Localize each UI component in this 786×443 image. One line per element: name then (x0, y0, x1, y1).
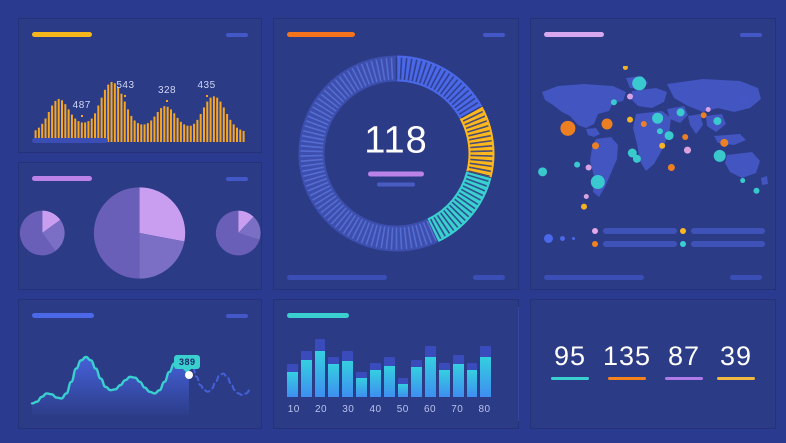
map-legend-label-bar (603, 241, 677, 247)
donut-underline-secondary (377, 182, 415, 186)
kpi-value: 39 (717, 343, 755, 370)
panel-striped-wave: 487543328435 (18, 18, 262, 153)
bar-column[interactable] (370, 363, 381, 397)
bar-column[interactable] (301, 351, 312, 397)
bar-segment-base (356, 378, 367, 397)
bar-column[interactable] (287, 364, 298, 397)
map-legend-bubble (560, 236, 565, 241)
donut-gauge-chart[interactable]: 118 (273, 46, 519, 261)
bar-x-tick: 50 (396, 404, 410, 415)
bar-segment-base (287, 372, 298, 397)
bar-segment-base (342, 361, 353, 397)
map-legend-dot (680, 228, 686, 234)
bar-column[interactable] (453, 355, 464, 397)
bar-column[interactable] (480, 346, 491, 397)
panel-pie-charts (18, 162, 262, 290)
panel-world-map (530, 18, 776, 290)
map-legend-label-bar (691, 241, 765, 247)
kpi-item[interactable]: 87 (665, 343, 703, 380)
panel-bar-chart: 1020304050607080 (273, 299, 519, 429)
panel-header-accent-map (544, 32, 604, 37)
bar-column[interactable] (315, 339, 326, 397)
bar-x-tick (410, 404, 424, 415)
map-legend-item[interactable] (592, 241, 677, 247)
bar-x-tick (382, 404, 396, 415)
data-tooltip: 389 (174, 355, 201, 369)
bar-segment-upper (439, 363, 450, 370)
wave-value-dot (166, 100, 168, 102)
kpi-underline (608, 377, 646, 380)
bar-segment-upper (480, 346, 491, 356)
kpi-value: 135 (603, 343, 651, 370)
wave-value-label: 328 (158, 85, 176, 96)
bar-column[interactable] (439, 363, 450, 397)
bar-segment-upper (467, 363, 478, 370)
map-legend-bubble (544, 234, 553, 243)
bar-segment-base (301, 360, 312, 397)
kpi-underline (717, 377, 755, 380)
bar-segment-base (453, 364, 464, 397)
bar-x-tick (491, 404, 505, 415)
bar-segment-base (370, 370, 381, 397)
wave-value-label: 543 (116, 80, 134, 91)
wave-value-label: 487 (73, 100, 91, 111)
donut-value: 118 (336, 121, 456, 159)
bar-column[interactable] (328, 357, 339, 397)
panel-menu-chip-wave[interactable] (226, 33, 248, 37)
bar-chart-x-axis: 1020304050607080 (287, 404, 505, 415)
panel-footer-bar-left-wave (32, 138, 108, 143)
map-legend-label-bar (691, 228, 765, 234)
wave-value-dot (124, 95, 126, 97)
bar-segment-upper (425, 346, 436, 356)
wave-value-dot (206, 95, 208, 97)
kpi-item[interactable]: 135 (603, 343, 651, 380)
area-line-chart[interactable]: 389 (18, 335, 262, 427)
bar-x-tick: 80 (478, 404, 492, 415)
bar-x-tick: 40 (369, 404, 383, 415)
panel-footer-bar-right-map (730, 275, 762, 280)
bar-x-tick (301, 404, 315, 415)
bar-segment-base (328, 364, 339, 397)
bar-x-tick (355, 404, 369, 415)
pie-small-right[interactable] (214, 207, 262, 259)
bar-column[interactable] (425, 346, 436, 397)
panel-header-accent-wave (32, 32, 92, 37)
map-legend-item[interactable] (592, 228, 677, 234)
bar-segment-base (425, 357, 436, 397)
map-legend-label-bar (603, 228, 677, 234)
dashboard-root: 487543328435 389 118 (0, 0, 786, 443)
bar-chart[interactable] (287, 335, 505, 397)
bar-column[interactable] (398, 378, 409, 397)
bar-column[interactable] (342, 351, 353, 397)
panel-area-line-chart: 389 (18, 299, 262, 429)
pie-small-left[interactable] (18, 207, 66, 259)
striped-wave-chart[interactable]: 487543328435 (18, 58, 262, 146)
panel-kpi-numbers: 951358739 (530, 299, 776, 429)
bar-segment-upper (453, 355, 464, 364)
panel-divider (518, 307, 519, 421)
map-legend-dot (680, 241, 686, 247)
kpi-value: 87 (665, 343, 703, 370)
panel-menu-chip-map[interactable] (740, 33, 762, 37)
bar-x-tick: 30 (342, 404, 356, 415)
bar-segment-upper (287, 364, 298, 371)
bar-x-tick: 20 (314, 404, 328, 415)
kpi-item[interactable]: 95 (551, 343, 589, 380)
bar-segment-upper (384, 357, 395, 366)
bar-column[interactable] (467, 363, 478, 397)
panel-header-accent-area (32, 313, 94, 318)
bar-segment-base (398, 384, 409, 397)
map-svg (538, 66, 768, 211)
world-bubble-map[interactable] (538, 66, 768, 211)
bar-segment-upper (315, 339, 326, 351)
kpi-group: 951358739 (530, 299, 776, 429)
kpi-underline (551, 377, 589, 380)
panel-header-accent-donut (287, 32, 355, 37)
map-legend (544, 228, 762, 256)
bar-x-tick (464, 404, 478, 415)
bar-column[interactable] (411, 360, 422, 397)
bar-segment-base (411, 367, 422, 397)
kpi-underline (665, 377, 703, 380)
wave-svg (18, 58, 262, 146)
panel-footer-bar-right-donut (473, 275, 505, 280)
panel-menu-chip-area[interactable] (226, 314, 248, 318)
bar-segment-base (384, 366, 395, 397)
bar-segment-upper (301, 351, 312, 360)
map-legend-bubble (572, 237, 575, 240)
panel-donut-gauge: 118 (273, 18, 519, 290)
area-svg (18, 335, 262, 427)
map-legend-dot (592, 228, 598, 234)
pie-charts-group[interactable] (18, 162, 262, 290)
bar-segment-upper (370, 363, 381, 370)
bar-x-tick: 10 (287, 404, 301, 415)
pie-large-center[interactable] (92, 182, 187, 284)
wave-value-dot (81, 115, 83, 117)
map-legend-dot (592, 241, 598, 247)
bar-segment-base (480, 357, 491, 397)
bar-segment-upper (411, 360, 422, 367)
panel-footer-bar-left-donut (287, 275, 387, 280)
bar-x-tick: 70 (451, 404, 465, 415)
panel-footer-bar-left-map (544, 275, 644, 280)
map-legend-item[interactable] (680, 241, 765, 247)
bar-x-tick (328, 404, 342, 415)
map-legend-item[interactable] (680, 228, 765, 234)
bar-segment-upper (342, 351, 353, 361)
donut-center-label: 118 (336, 121, 456, 186)
bar-segment-base (439, 370, 450, 397)
bar-segment-upper (328, 357, 339, 364)
bar-column[interactable] (384, 357, 395, 397)
bar-x-tick: 60 (423, 404, 437, 415)
kpi-value: 95 (551, 343, 589, 370)
bar-x-tick (437, 404, 451, 415)
donut-underline-primary (368, 171, 424, 176)
panel-menu-chip-donut[interactable] (483, 33, 505, 37)
bar-segment-base (315, 351, 326, 397)
wave-value-label: 435 (197, 80, 215, 91)
panel-header-accent-bars (287, 313, 349, 318)
kpi-item[interactable]: 39 (717, 343, 755, 380)
bar-segment-base (467, 370, 478, 397)
bar-column[interactable] (356, 372, 367, 397)
